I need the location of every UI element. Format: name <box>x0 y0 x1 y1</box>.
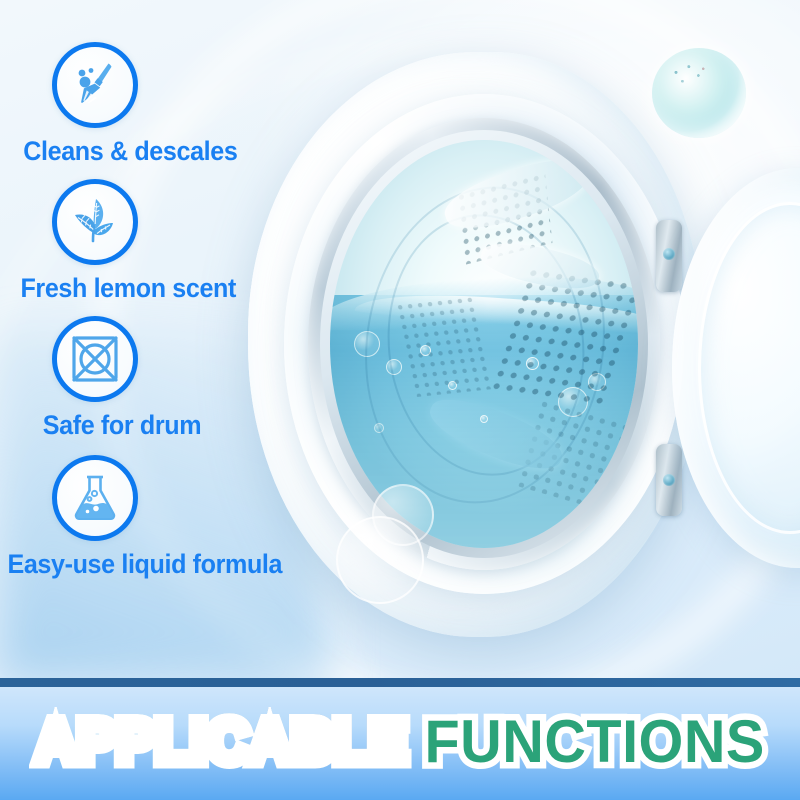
drum-safe-square-circle-icon <box>52 316 138 402</box>
drum-glass-window <box>330 140 638 548</box>
flask-liquid-icon <box>52 455 138 541</box>
feature-label: Fresh lemon scent <box>0 273 270 304</box>
broom-sparkle-icon <box>52 42 138 128</box>
decorative-bubble <box>372 484 434 546</box>
feature-list: Cleans & descales <box>0 30 290 590</box>
leaves-icon <box>52 179 138 265</box>
water-bubble <box>386 359 402 375</box>
washing-machine-image <box>248 42 718 642</box>
banner-title-plate: APPLICABLE FUNCTIONS <box>0 706 800 782</box>
feature-label: Cleans & descales <box>0 136 270 167</box>
feature-item-safe-for-drum: Safe for drum <box>0 316 290 441</box>
bottom-banner: APPLICABLE FUNCTIONS <box>0 678 800 800</box>
floating-droplet-icon <box>652 48 746 138</box>
hinge-screw <box>663 248 675 260</box>
banner-title-space <box>408 708 424 775</box>
water-bubble <box>374 423 384 433</box>
water-bubble <box>354 331 380 357</box>
feature-item-fresh-lemon-scent: Fresh lemon scent <box>0 179 290 304</box>
product-infographic-poster: Cleans & descales <box>0 0 800 800</box>
hinge-screw <box>663 474 675 486</box>
water-bubble <box>448 381 457 390</box>
door-hinge-bottom <box>656 444 682 516</box>
feature-label: Easy-use liquid formula <box>0 549 270 580</box>
open-glass-door <box>672 168 800 568</box>
water-bubble <box>480 415 488 423</box>
water-bubble <box>420 345 431 356</box>
banner-title: APPLICABLE FUNCTIONS <box>35 712 765 772</box>
feature-label: Safe for drum <box>0 410 270 441</box>
banner-title-word-functions: FUNCTIONS <box>425 708 765 775</box>
banner-top-strip <box>0 678 800 687</box>
water-bubble <box>588 373 606 391</box>
water-bubble <box>558 387 588 417</box>
banner-body: APPLICABLE FUNCTIONS <box>0 687 800 800</box>
water-bubble <box>526 357 539 370</box>
feature-item-easy-use-liquid-formula: Easy-use liquid formula <box>0 455 290 580</box>
feature-item-cleans-descales: Cleans & descales <box>0 42 290 167</box>
banner-title-word-applicable: APPLICABLE <box>35 708 408 775</box>
door-hinge-top <box>656 220 682 292</box>
